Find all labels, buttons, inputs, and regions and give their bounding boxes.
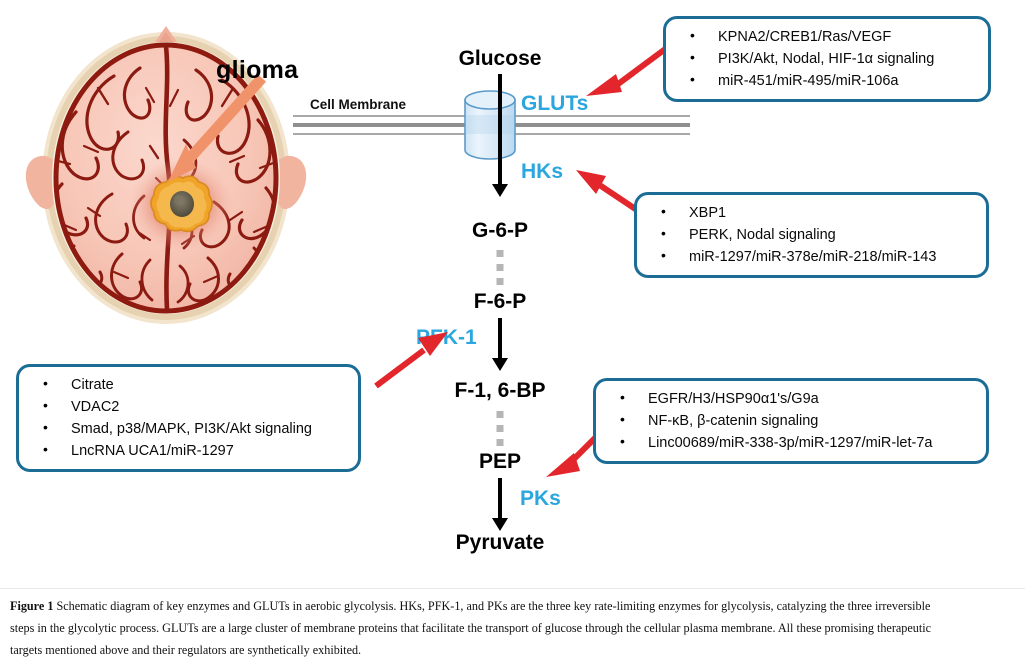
enzyme-label-gluts: GLUTs — [521, 92, 588, 116]
regulator-box-hks: XBP1 PERK, Nodal signaling miR-1297/miR-… — [634, 192, 989, 278]
list-item: EGFR/H3/HSP90α1's/G9a — [606, 388, 976, 410]
list-item: Citrate — [29, 374, 348, 396]
glut-transporter-cylinder — [462, 91, 518, 159]
figure-caption: Figure 1 Schematic diagram of key enzyme… — [10, 595, 945, 661]
list-item: XBP1 — [647, 202, 976, 224]
list-item: NF-κB, β-catenin signaling — [606, 410, 976, 432]
list-item: LncRNA UCA1/miR-1297 — [29, 440, 348, 462]
dotted-step-1a — [497, 250, 504, 257]
regulator-box-pfk1: Citrate VDAC2 Smad, p38/MAPK, PI3K/Akt s… — [16, 364, 361, 472]
dotted-step-2b — [497, 425, 504, 432]
caption-body: Schematic diagram of key enzymes and GLU… — [10, 598, 931, 657]
membrane-label: Cell Membrane — [310, 97, 406, 112]
arrow-pep-to-pyruvate-shaft — [498, 478, 502, 520]
metabolite-glucose: Glucose — [459, 47, 542, 71]
list-item: KPNA2/CREB1/Ras/VEGF — [676, 26, 978, 48]
figure-canvas: glioma Cell Membrane Glucose GLUT — [0, 0, 1025, 665]
list-item: Linc00689/miR-338-3p/miR-1297/miR-let-7a — [606, 432, 976, 454]
metabolite-f6p: F-6-P — [474, 290, 527, 314]
list-item: PERK, Nodal signaling — [647, 224, 976, 246]
dotted-step-2c — [497, 439, 504, 446]
metabolite-f16bp: F-1, 6-BP — [454, 379, 545, 403]
metabolite-pep: PEP — [479, 450, 521, 474]
list-item: miR-1297/miR-378e/miR-218/miR-143 — [647, 246, 976, 268]
dotted-step-1c — [497, 278, 504, 285]
caption-divider — [0, 588, 1025, 589]
metabolite-pyruvate: Pyruvate — [456, 531, 545, 555]
red-arrow-to-pfk1 — [370, 330, 452, 392]
glioma-label: glioma — [216, 56, 298, 85]
dotted-step-1b — [497, 264, 504, 271]
arrow-icon — [168, 78, 262, 182]
arrow-f6p-to-f16bp-shaft — [498, 318, 502, 360]
regulator-list-pfk1: Citrate VDAC2 Smad, p38/MAPK, PI3K/Akt s… — [29, 374, 348, 462]
regulator-list-gluts: KPNA2/CREB1/Ras/VEGF PI3K/Akt, Nodal, HI… — [676, 26, 978, 92]
regulator-list-pks: EGFR/H3/HSP90α1's/G9a NF-κB, β-catenin s… — [606, 388, 976, 454]
metabolite-g6p: G-6-P — [472, 219, 528, 243]
list-item: PI3K/Akt, Nodal, HIF-1α signaling — [676, 48, 978, 70]
arrow-f6p-to-f16bp-head — [492, 358, 508, 371]
list-item: Smad, p38/MAPK, PI3K/Akt signaling — [29, 418, 348, 440]
regulator-box-pks: EGFR/H3/HSP90α1's/G9a NF-κB, β-catenin s… — [593, 378, 989, 464]
regulator-box-gluts: KPNA2/CREB1/Ras/VEGF PI3K/Akt, Nodal, HI… — [663, 16, 991, 102]
arrow-glucose-to-g6p-head — [492, 184, 508, 197]
enzyme-label-hks: HKs — [521, 160, 563, 184]
enzyme-label-pks: PKs — [520, 487, 561, 511]
glioma-pointer-arrow — [150, 72, 280, 200]
dotted-step-2a — [497, 411, 504, 418]
arrow-glucose-to-g6p-shaft — [498, 74, 502, 186]
red-arrow-icon — [586, 44, 672, 96]
list-item: VDAC2 — [29, 396, 348, 418]
caption-figure-number: Figure 1 — [10, 598, 53, 613]
red-arrow-icon — [376, 332, 448, 386]
figure-caption-area: Figure 1 Schematic diagram of key enzyme… — [0, 588, 1025, 665]
arrow-pep-to-pyruvate-head — [492, 518, 508, 531]
regulator-list-hks: XBP1 PERK, Nodal signaling miR-1297/miR-… — [647, 202, 976, 268]
list-item: miR-451/miR-495/miR-106a — [676, 70, 978, 92]
